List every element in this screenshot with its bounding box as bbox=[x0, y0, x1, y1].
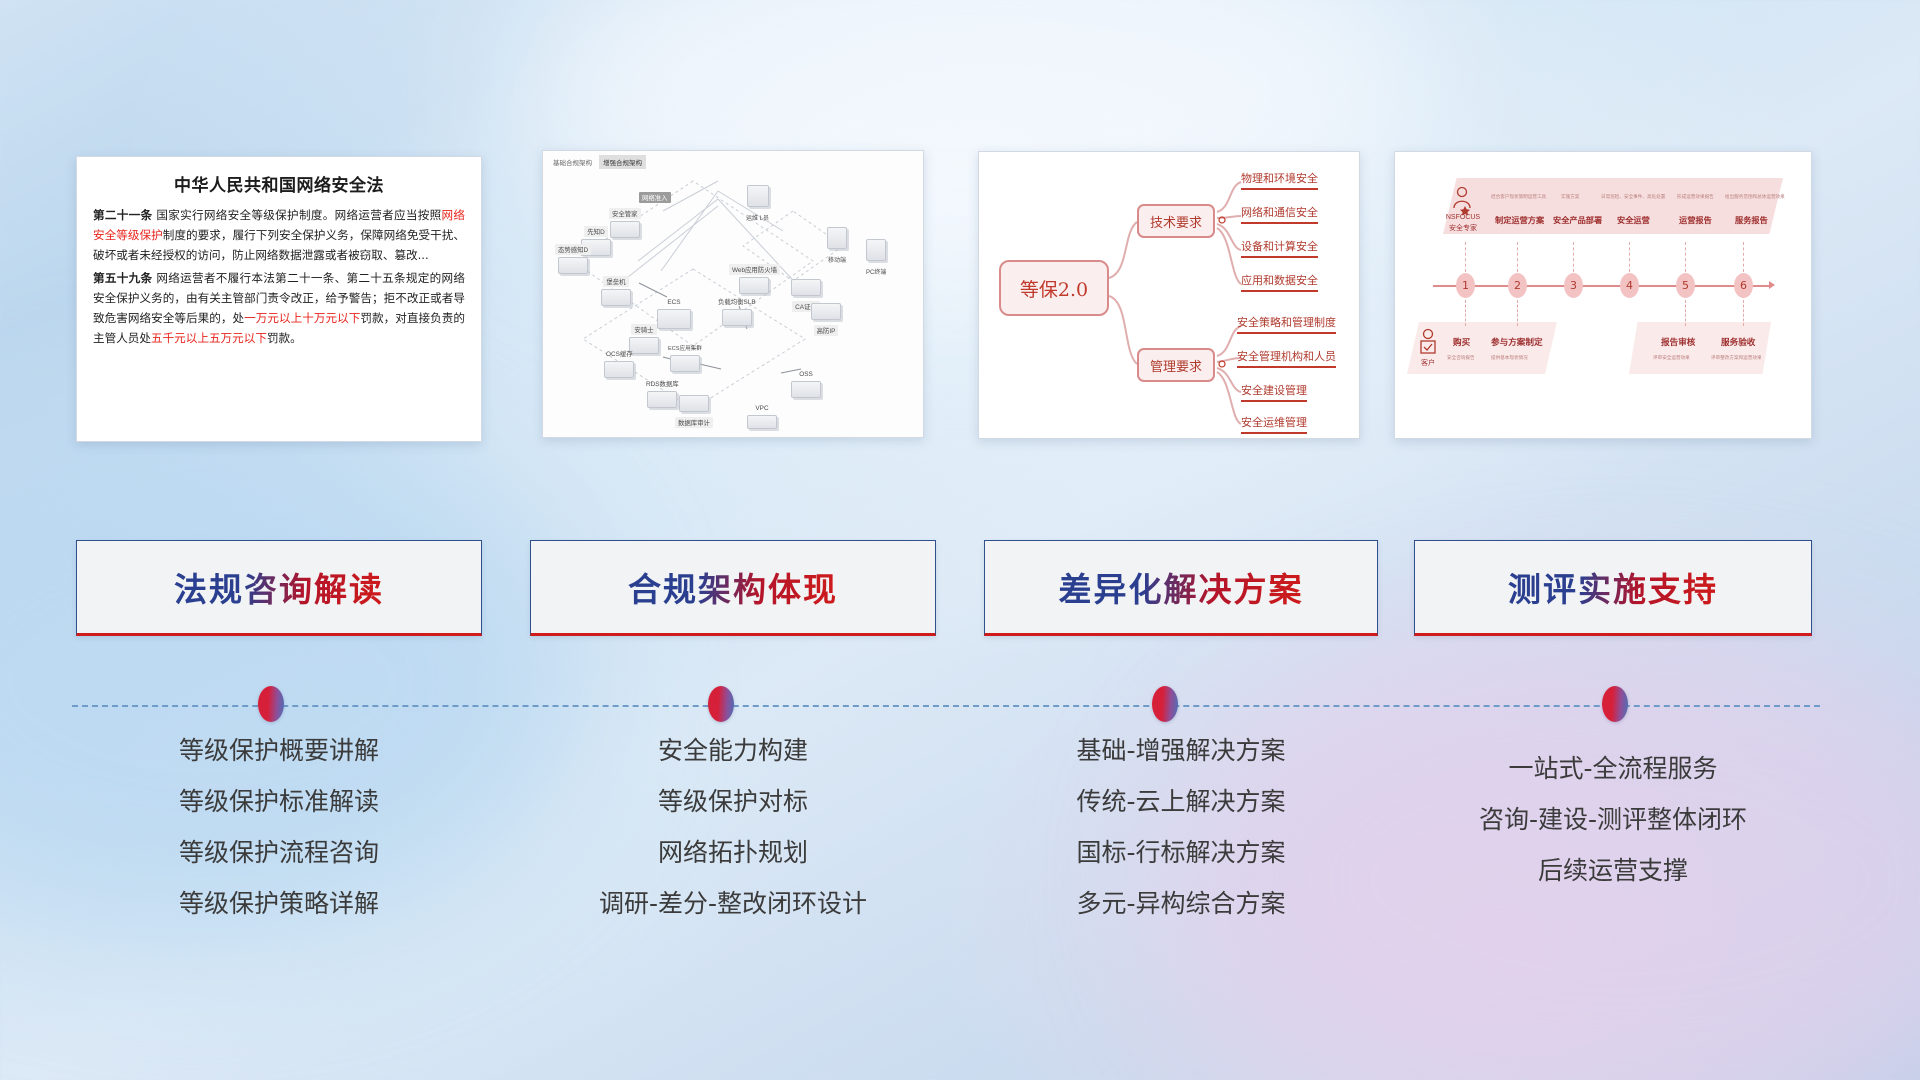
node-ecs-cluster: ECS应用集群 bbox=[665, 337, 705, 372]
connector-dash bbox=[1517, 300, 1518, 326]
step-main: 安全运营 bbox=[1617, 214, 1650, 226]
timeline-marker-2[interactable] bbox=[708, 686, 734, 722]
timeline-axis bbox=[1433, 285, 1771, 287]
node-label: 移动端 bbox=[825, 254, 849, 265]
expert-person-icon bbox=[1451, 186, 1473, 216]
node-label: OSS bbox=[796, 370, 816, 379]
mindmap-root: 等保2.0 bbox=[999, 260, 1109, 316]
step-main: 运营报告 bbox=[1679, 214, 1712, 226]
step-number-badge: 4 bbox=[1620, 273, 1639, 298]
section-title-box-2[interactable]: 合规架构体现 bbox=[530, 540, 936, 636]
law-article-59: 第五十九条 网络运营者不履行本法第二十一条、第二十五条规定的网络安全保护义务的，… bbox=[93, 269, 465, 349]
step-number-badge: 2 bbox=[1508, 273, 1527, 298]
expert-band bbox=[1443, 178, 1783, 234]
node-label: VPC bbox=[752, 404, 771, 413]
list-item: 网络拓扑规划 bbox=[530, 840, 936, 865]
node-cube-icon bbox=[811, 303, 841, 320]
list-item: 多元-异构综合方案 bbox=[984, 891, 1378, 916]
step-sub: 给出服务范围和总体运营效果 bbox=[1725, 194, 1785, 200]
step-number-badge: 5 bbox=[1676, 273, 1695, 298]
node-label: Web应用防火墙 bbox=[729, 264, 780, 275]
node-ecs: ECS bbox=[657, 291, 691, 329]
reference-card-row: 中华人民共和国网络安全法 第二十一条 国家实行网络安全等级保护制度。网络运营者应… bbox=[0, 148, 1920, 448]
node-vpc: VPC bbox=[747, 397, 777, 429]
node-pc-endpoint: PC终端 bbox=[863, 239, 889, 279]
step-main: 服务报告 bbox=[1735, 214, 1768, 226]
node-label: 数据库审计 bbox=[675, 417, 713, 428]
node-cube-icon bbox=[670, 355, 700, 372]
detail-list-3: 基础-增强解决方案 传统-云上解决方案 国标-行标解决方案 多元-异构综合方案 bbox=[984, 738, 1378, 942]
step-main: 制定运营方案 bbox=[1495, 214, 1544, 226]
architecture-diagram: 基础合规架构增强合规架构 bbox=[543, 151, 923, 437]
mindmap-leaf: 应用和数据安全 bbox=[1241, 272, 1318, 292]
node-ops-staff: 运维 L员 bbox=[743, 185, 772, 225]
progress-timeline bbox=[0, 686, 1920, 726]
node-oss: OSS bbox=[791, 363, 821, 398]
node-label: 网络准入 bbox=[639, 192, 671, 203]
node-cube-icon bbox=[827, 227, 847, 249]
step-sub: 实施方案 bbox=[1561, 194, 1579, 200]
mindmap-leaf: 安全运维管理 bbox=[1241, 414, 1307, 434]
node-label: 先知D bbox=[584, 226, 607, 237]
node-waf: Web应用防火墙 bbox=[729, 259, 780, 294]
list-item: 等级保护策略详解 bbox=[76, 891, 482, 916]
mindmap-leaf: 物理和环境安全 bbox=[1241, 170, 1318, 190]
article-21-label: 第二十一条 bbox=[93, 208, 152, 222]
section-title-text: 合规架构体现 bbox=[628, 563, 838, 611]
node-label: 安全管家 bbox=[609, 208, 641, 219]
customer-step-main: 购买 bbox=[1453, 336, 1470, 348]
article-59-text-3: 罚款。 bbox=[267, 331, 302, 345]
node-slb: 负载均衡SLB bbox=[715, 291, 759, 326]
node-situational-awareness: 态势感知D bbox=[555, 239, 591, 274]
article-59-fine-1: 一万元以上十万元以下 bbox=[244, 311, 360, 325]
nsfocus-timeline-diagram: NSFOCUS 安全专家 结合客户现状策明运营工具 制定运营方案 实施方案 安全… bbox=[1395, 152, 1811, 438]
list-item: 国标-行标解决方案 bbox=[984, 840, 1378, 865]
step-number-badge: 3 bbox=[1564, 273, 1583, 298]
article-21-text-1: 国家实行网络安全等级保护制度。网络运营者应当按照 bbox=[152, 208, 441, 222]
mindmap-leaf: 设备和计算安全 bbox=[1241, 238, 1318, 258]
connector-dash bbox=[1743, 242, 1744, 272]
law-article-21: 第二十一条 国家实行网络安全等级保护制度。网络运营者应当按照网络安全等级保护制度… bbox=[93, 206, 465, 266]
node-bastion-host: 堡垒机 bbox=[601, 271, 631, 306]
node-label: OCS缓存 bbox=[603, 348, 636, 359]
node-security-steward: 安全管家 bbox=[609, 203, 641, 238]
mindmap-branch-technical: 技术要求 bbox=[1137, 204, 1215, 238]
connector-dash bbox=[1517, 242, 1518, 272]
list-item: 后续运营支撑 bbox=[1414, 858, 1812, 883]
node-label: 堡垒机 bbox=[603, 276, 628, 287]
node-cube-icon bbox=[791, 381, 821, 398]
node-cube-icon bbox=[866, 239, 886, 261]
node-high-defense-ip: 高防IP bbox=[811, 303, 841, 338]
list-item: 等级保护对标 bbox=[530, 789, 936, 814]
mindmap-leaf: 安全建设管理 bbox=[1241, 382, 1307, 402]
list-item: 等级保护概要讲解 bbox=[76, 738, 482, 763]
list-item: 调研-差分-整改闭环设计 bbox=[530, 891, 936, 916]
node-label: 负载均衡SLB bbox=[715, 296, 759, 307]
mindmap-leaf: 网络和通信安全 bbox=[1241, 204, 1318, 224]
card-compliance-architecture[interactable]: 基础合规架构增强合规架构 bbox=[542, 150, 924, 438]
node-label: ECS bbox=[664, 298, 683, 307]
law-document: 中华人民共和国网络安全法 第二十一条 国家实行网络安全等级保护制度。网络运营者应… bbox=[77, 157, 481, 360]
connector-dash bbox=[1743, 300, 1744, 326]
section-title-box-4[interactable]: 测评实施支持 bbox=[1414, 540, 1812, 636]
customer-step-main: 参与方案制定 bbox=[1491, 336, 1543, 348]
detail-list-4: 一站式-全流程服务 咨询-建设-测评整体闭环 后续运营支撑 bbox=[1414, 756, 1812, 909]
step-sub: 结合客户现状策明运营工具 bbox=[1491, 194, 1546, 200]
node-cube-icon bbox=[679, 395, 709, 412]
node-cube-icon bbox=[604, 361, 634, 378]
step-number-badge: 6 bbox=[1734, 273, 1753, 298]
node-cube-icon bbox=[791, 279, 821, 296]
node-cube-icon bbox=[558, 257, 588, 274]
node-cube-icon bbox=[747, 415, 777, 429]
list-item: 安全能力构建 bbox=[530, 738, 936, 763]
article-59-label: 第五十九条 bbox=[93, 271, 152, 285]
list-item: 等级保护流程咨询 bbox=[76, 840, 482, 865]
step-sub: 日常巡检、安全事件、高危处置 bbox=[1601, 194, 1665, 200]
node-mobile-endpoint: 移动端 bbox=[825, 227, 849, 267]
node-label: ECS应用集群 bbox=[665, 343, 705, 353]
article-59-fine-2: 五千元以上五万元以下 bbox=[151, 331, 267, 345]
section-title-box-3[interactable]: 差异化解决方案 bbox=[984, 540, 1378, 636]
node-label: PC终端 bbox=[863, 266, 889, 277]
section-title-box-1[interactable]: 法规咨询解读 bbox=[76, 540, 482, 636]
list-item: 传统-云上解决方案 bbox=[984, 789, 1378, 814]
customer-person-icon bbox=[1417, 328, 1439, 362]
connector-dash bbox=[1465, 242, 1466, 272]
connector-dash bbox=[1685, 242, 1686, 272]
timeline-marker-3[interactable] bbox=[1152, 686, 1178, 722]
customer-step-main: 报告审核 bbox=[1661, 336, 1695, 348]
section-title-text: 差异化解决方案 bbox=[1059, 563, 1304, 611]
node-cube-icon bbox=[747, 185, 769, 207]
customer-step-sub: 安全咨询报告 bbox=[1447, 355, 1475, 361]
mindmap-diagram: 等保2.0 技术要求 管理要求 物理和环境安全 网络和通信安全 设备和计算安全 … bbox=[979, 152, 1359, 438]
law-title: 中华人民共和国网络安全法 bbox=[93, 171, 465, 196]
node-cube-icon bbox=[647, 391, 677, 408]
list-item: 基础-增强解决方案 bbox=[984, 738, 1378, 763]
card-cybersecurity-law[interactable]: 中华人民共和国网络安全法 第二十一条 国家实行网络安全等级保护制度。网络运营者应… bbox=[76, 156, 482, 442]
timeline-dashed-line bbox=[72, 705, 1820, 707]
customer-step-sub: 评审安全运营效果 bbox=[1653, 355, 1690, 361]
node-cube-icon bbox=[601, 289, 631, 306]
section-title-text: 测评实施支持 bbox=[1508, 563, 1718, 611]
customer-step-main: 服务验收 bbox=[1721, 336, 1755, 348]
detail-list-2: 安全能力构建 等级保护对标 网络拓扑规划 调研-差分-整改闭环设计 bbox=[530, 738, 936, 942]
step-main: 安全产品部署 bbox=[1553, 214, 1602, 226]
section-title-row: 法规咨询解读 合规架构体现 差异化解决方案 测评实施支持 bbox=[0, 540, 1920, 650]
node-cube-icon bbox=[610, 221, 640, 238]
connector-dash bbox=[1465, 300, 1466, 326]
node-label: RDS数据库 bbox=[643, 378, 682, 389]
node-label: 安骑士 bbox=[631, 324, 656, 335]
mindmap-branch-management: 管理要求 bbox=[1137, 348, 1215, 382]
step-number-badge: 1 bbox=[1456, 273, 1475, 298]
customer-step-sub: 评审整改方案和运营效果 bbox=[1711, 355, 1762, 361]
connector-dash bbox=[1573, 242, 1574, 272]
mindmap-leaf: 安全策略和管理制度 bbox=[1237, 314, 1336, 334]
node-cube-icon bbox=[657, 309, 691, 329]
customer-band-right bbox=[1629, 322, 1771, 374]
step-sub: 形成运营效果报告 bbox=[1677, 194, 1714, 200]
card-nsfocus-service-flow[interactable]: NSFOCUS 安全专家 结合客户现状策明运营工具 制定运营方案 实施方案 安全… bbox=[1394, 151, 1812, 439]
section-title-text: 法规咨询解读 bbox=[174, 563, 384, 611]
section-detail-lists: 等级保护概要讲解 等级保护标准解读 等级保护流程咨询 等级保护策略详解 安全能力… bbox=[0, 738, 1920, 968]
list-item: 咨询-建设-测评整体闭环 bbox=[1414, 807, 1812, 832]
node-network-access: 网络准入 bbox=[639, 187, 671, 205]
expert-brand: NSFOCUS bbox=[1441, 214, 1485, 221]
list-item: 等级保护标准解读 bbox=[76, 789, 482, 814]
node-label: 高防IP bbox=[814, 325, 839, 336]
connector-dash bbox=[1629, 242, 1630, 272]
expert-role: 安全专家 bbox=[1441, 223, 1485, 233]
node-label: 态势感知D bbox=[555, 244, 591, 255]
node-database-audit: 数据库审计 bbox=[675, 395, 713, 430]
node-ocs-cache: OCS缓存 bbox=[603, 343, 636, 378]
node-label: 运维 L员 bbox=[743, 212, 772, 223]
node-cube-icon bbox=[722, 309, 752, 326]
timeline-marker-4[interactable] bbox=[1602, 686, 1628, 722]
card-dengbao-mindmap[interactable]: 等保2.0 技术要求 管理要求 物理和环境安全 网络和通信安全 设备和计算安全 … bbox=[978, 151, 1360, 439]
timeline-marker-1[interactable] bbox=[258, 686, 284, 722]
mindmap-leaf: 安全管理机构和人员 bbox=[1237, 348, 1336, 368]
timeline-arrow-icon bbox=[1769, 281, 1775, 289]
connector-dash bbox=[1685, 300, 1686, 326]
detail-list-1: 等级保护概要讲解 等级保护标准解读 等级保护流程咨询 等级保护策略详解 bbox=[76, 738, 482, 942]
customer-step-sub: 提供基本现状情况 bbox=[1491, 355, 1528, 361]
customer-role: 客户 bbox=[1411, 358, 1445, 368]
list-item: 一站式-全流程服务 bbox=[1414, 756, 1812, 781]
